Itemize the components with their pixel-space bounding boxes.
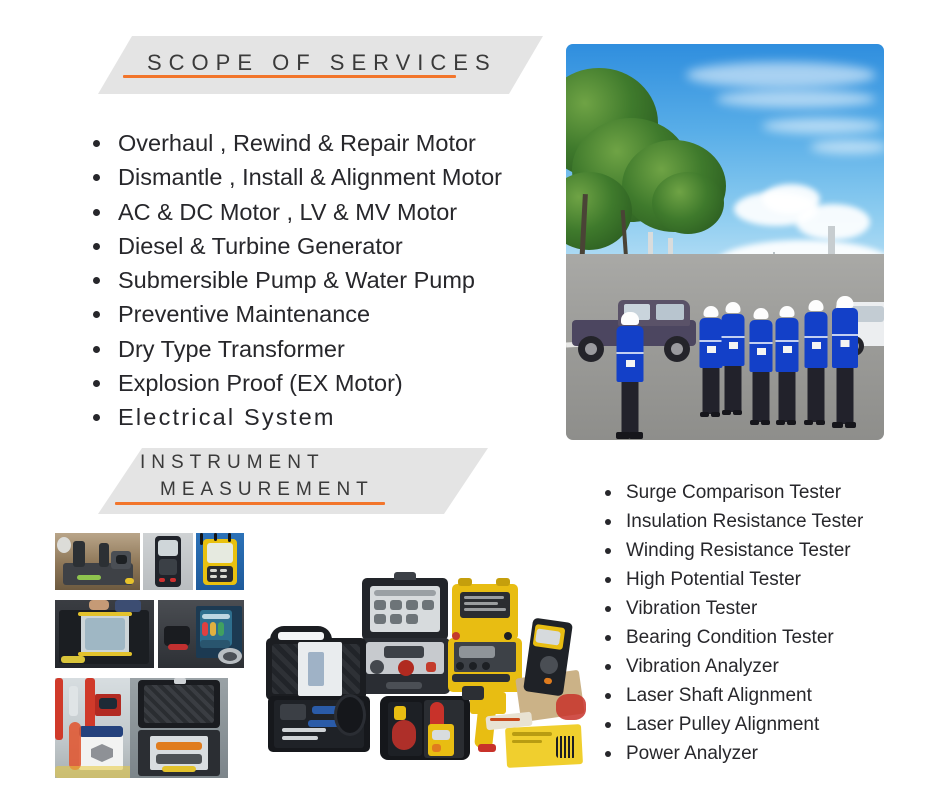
list-item: Electrical System <box>82 400 552 434</box>
list-item: Power Analyzer <box>596 739 916 768</box>
list-item: AC & DC Motor , LV & MV Motor <box>82 195 552 229</box>
worker-figure <box>828 296 862 438</box>
instrument-measurement-heading-line2: MEASUREMENT <box>160 479 374 501</box>
list-item: Insulation Resistance Tester <box>596 507 916 536</box>
list-item: Laser Pulley Alignment <box>596 710 916 739</box>
scope-of-services-underline <box>123 75 456 78</box>
list-item: Vibration Tester <box>596 594 916 623</box>
list-item: Dismantle , Install & Alignment Motor <box>82 160 552 194</box>
list-item: Diesel & Turbine Generator <box>82 229 552 263</box>
instrument-measurement-list: Surge Comparison Tester Insulation Resis… <box>596 478 916 768</box>
scope-of-services-heading: SCOPE OF SERVICES <box>147 50 497 76</box>
vibration-analyzer-thumb <box>55 600 154 668</box>
list-item: Bearing Condition Tester <box>596 623 916 652</box>
winding-resistance-tester-thumb <box>158 600 244 668</box>
surge-comparison-tester-thumb <box>143 533 193 590</box>
measurement-toolkit-photo <box>256 560 586 782</box>
high-potential-tester-thumb <box>55 678 140 778</box>
list-item: Vibration Analyzer <box>596 652 916 681</box>
laser-pulley-alignment-thumb <box>130 678 228 778</box>
list-item: Preventive Maintenance <box>82 297 552 331</box>
list-item: Overhaul , Rewind & Repair Motor <box>82 126 552 160</box>
laser-shaft-alignment-thumb <box>55 533 140 590</box>
worker-figure <box>610 312 650 440</box>
list-item: High Potential Tester <box>596 565 916 594</box>
instrument-measurement-underline <box>115 502 385 505</box>
instrument-measurement-heading-line1: INSTRUMENT <box>140 452 325 474</box>
list-item: Submersible Pump & Water Pump <box>82 263 552 297</box>
list-item: Explosion Proof (EX Motor) <box>82 366 552 400</box>
worker-figure <box>718 302 748 424</box>
scope-of-services-list: Overhaul , Rewind & Repair Motor Dismant… <box>82 126 552 435</box>
list-item: Dry Type Transformer <box>82 332 552 366</box>
list-item: Surge Comparison Tester <box>596 478 916 507</box>
team-photo <box>566 44 884 440</box>
list-item: Winding Resistance Tester <box>596 536 916 565</box>
list-item: Laser Shaft Alignment <box>596 681 916 710</box>
power-analyzer-thumb <box>196 533 244 590</box>
worker-figure <box>772 306 802 434</box>
